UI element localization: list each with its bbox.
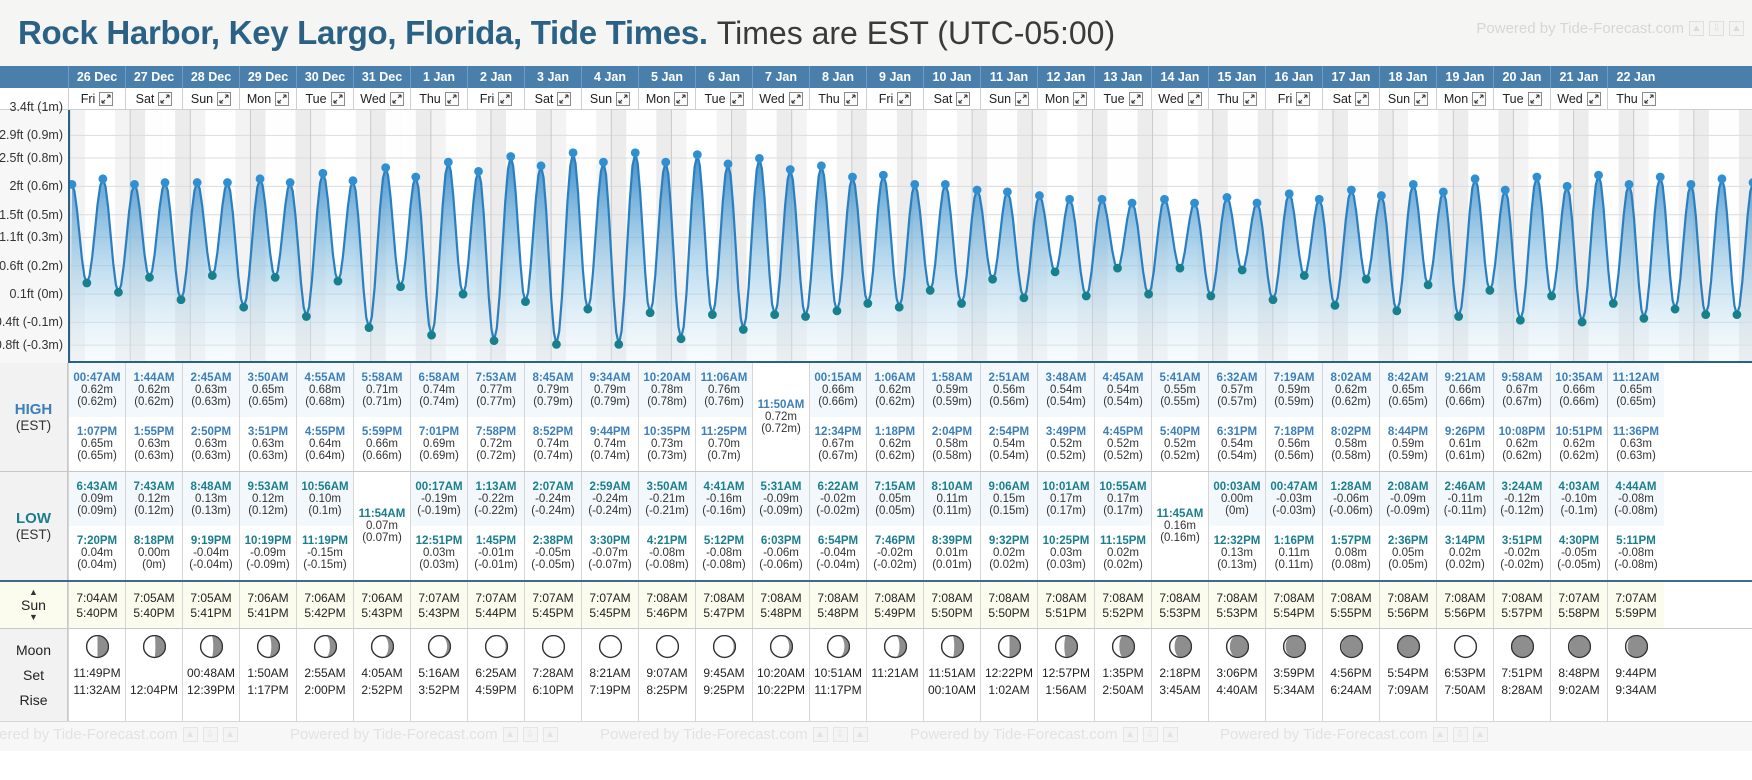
tide-event[interactable]: 8:44PM0.59m(0.59m) [1380, 417, 1436, 471]
high-tide-marker[interactable] [661, 158, 670, 167]
expand-icon[interactable] [498, 92, 512, 106]
low-tide-marker[interactable] [770, 310, 779, 319]
tide-event[interactable]: 8:02AM0.62m(0.62m) [1323, 363, 1379, 417]
expand-icon[interactable] [1472, 92, 1486, 106]
tide-event[interactable]: 2:50PM0.63m(0.63m) [183, 417, 239, 471]
low-tide-marker[interactable] [1547, 292, 1556, 301]
date-cell[interactable]: 29 Dec [239, 66, 296, 88]
high-tide-marker[interactable] [130, 180, 139, 189]
low-tide-marker[interactable] [1516, 316, 1525, 325]
expand-icon[interactable] [1073, 92, 1087, 106]
high-tide-marker[interactable] [506, 152, 515, 161]
high-tide-marker[interactable] [1190, 199, 1199, 208]
tide-event[interactable]: 7:53AM0.77m(0.77m) [468, 363, 524, 417]
chart-plot-area[interactable] [68, 110, 1752, 363]
expand-icon[interactable] [616, 92, 630, 106]
expand-icon[interactable] [674, 92, 688, 106]
low-tide-marker[interactable] [1485, 286, 1494, 295]
tide-event[interactable]: 2:54PM0.54m(0.54m) [981, 417, 1037, 471]
high-tide-marker[interactable] [1377, 191, 1386, 200]
expand-icon[interactable] [789, 92, 803, 106]
tide-event[interactable]: 7:18PM0.56m(0.56m) [1266, 417, 1322, 471]
tide-event[interactable]: 4:41AM-0.16m(-0.16m) [696, 472, 752, 526]
tide-event[interactable]: 1:58AM0.59m(0.59m) [924, 363, 980, 417]
high-tide-marker[interactable] [693, 150, 702, 159]
tide-event[interactable]: 12:34PM0.67m(0.67m) [810, 417, 866, 471]
tide-event[interactable]: 00:47AM-0.03m(-0.03m) [1266, 472, 1322, 526]
tide-event[interactable]: 9:44PM0.74m(0.74m) [582, 417, 638, 471]
low-tide-marker[interactable] [239, 303, 248, 312]
low-tide-marker[interactable] [302, 312, 311, 321]
tide-event[interactable]: 7:20PM0.04m(0.04m) [69, 526, 125, 580]
high-tide-marker[interactable] [474, 167, 483, 176]
high-tide-marker[interactable] [1223, 193, 1232, 202]
tide-height: 0.11m [1278, 547, 1309, 559]
date-cell[interactable]: 26 Dec [68, 66, 125, 88]
low-tide-marker[interactable] [459, 290, 468, 299]
low-tide-marker[interactable] [1424, 280, 1433, 289]
tide-height-alt: (0.74m) [419, 396, 459, 408]
tide-event[interactable]: 9:58AM0.67m(0.67m) [1494, 363, 1550, 417]
tide-event[interactable]: 1:45PM-0.01m(-0.01m) [468, 526, 524, 580]
high-tide-marker[interactable] [1656, 173, 1665, 182]
low-tide-marker[interactable] [114, 288, 123, 297]
expand-icon[interactable] [1296, 92, 1310, 106]
tide-event[interactable]: 5:40PM0.52m(0.52m) [1152, 417, 1208, 471]
tide-event[interactable]: 10:35AM0.66m(0.66m) [1551, 363, 1607, 417]
tide-event[interactable]: 6:03PM-0.06m(-0.06m) [753, 526, 809, 580]
tide-event[interactable]: 11:15PM0.02m(0.02m) [1095, 526, 1151, 580]
date-cell[interactable]: 4 Jan [581, 66, 638, 88]
expand-icon[interactable] [217, 92, 231, 106]
tide-event[interactable]: 5:58AM0.71m(0.71m) [354, 363, 410, 417]
high-tide-marker[interactable] [1128, 199, 1137, 208]
tide-event[interactable]: 11:12AM0.65m(0.65m) [1608, 363, 1664, 417]
expand-icon[interactable] [730, 92, 744, 106]
low-tide-marker[interactable] [1671, 305, 1680, 314]
tide-event[interactable]: 5:41AM0.55m(0.55m) [1152, 363, 1208, 417]
tide-event[interactable]: 9:21AM0.66m(0.66m) [1437, 363, 1493, 417]
date-cell[interactable]: 14 Jan [1151, 66, 1208, 88]
tide-height: 0.04m [81, 547, 113, 559]
high-tide-marker[interactable] [223, 178, 232, 187]
tide-event[interactable]: 11:19PM-0.15m(-0.15m) [297, 526, 353, 580]
tide-event[interactable]: 5:11PM-0.08m(-0.08m) [1608, 526, 1664, 580]
date-cell[interactable]: 7 Jan [752, 66, 809, 88]
high-tide-marker[interactable] [1347, 186, 1356, 195]
date-cell[interactable]: 1 Jan [410, 66, 467, 88]
tide-event[interactable]: 2:51AM0.56m(0.56m) [981, 363, 1037, 417]
tide-event[interactable]: 3:30PM-0.07m(-0.07m) [582, 526, 638, 580]
low-tide-marker[interactable] [708, 310, 717, 319]
low-tide-marker[interactable] [521, 297, 530, 306]
tide-event[interactable]: 10:20AM0.78m(0.78m) [639, 363, 695, 417]
tide-height: -0.02m [1504, 547, 1540, 559]
expand-icon[interactable] [390, 92, 404, 106]
low-tide-marker[interactable] [926, 286, 935, 295]
tide-event[interactable]: 8:48AM0.13m(0.13m) [183, 472, 239, 526]
tide-height: 0.70m [708, 438, 740, 450]
weekday-cell: Wed [1151, 88, 1208, 110]
tide-event[interactable]: 1:57PM0.08m(0.08m) [1323, 526, 1379, 580]
expand-icon[interactable] [1015, 92, 1029, 106]
high-tide-marker[interactable] [1035, 191, 1044, 200]
high-tide-marker[interactable] [1687, 180, 1696, 189]
expand-icon[interactable] [844, 92, 858, 106]
high-tide-marker[interactable] [381, 163, 390, 172]
expand-icon[interactable] [1129, 92, 1143, 106]
y-axis-tick: 0.6ft (0.2m) [0, 259, 63, 273]
date-cell[interactable]: 27 Dec [125, 66, 182, 88]
tide-event[interactable]: 1:55PM0.63m(0.63m) [126, 417, 182, 471]
date-cell[interactable]: 10 Jan [923, 66, 980, 88]
low-tide-marker[interactable] [1578, 318, 1587, 327]
low-tide-marker[interactable] [1051, 267, 1060, 276]
tide-event[interactable]: 1:44AM0.62m(0.62m) [126, 363, 182, 417]
tide-event[interactable]: 10:01AM0.17m(0.17m) [1038, 472, 1094, 526]
expand-icon[interactable] [158, 92, 172, 106]
high-tide-marker[interactable] [755, 154, 764, 163]
tide-event[interactable]: 3:50AM0.65m(0.65m) [240, 363, 296, 417]
low-tide-marker[interactable] [583, 305, 592, 314]
high-tide-marker[interactable] [1409, 180, 1418, 189]
high-tide-marker[interactable] [724, 160, 733, 169]
expand-icon[interactable] [1642, 92, 1656, 106]
tide-event[interactable]: 2:04PM0.58m(0.58m) [924, 417, 980, 471]
tide-event[interactable]: 11:54AM0.07m(0.07m) [354, 500, 410, 552]
high-tide-marker[interactable] [1471, 174, 1480, 183]
tide-height-alt: (0.78m) [647, 396, 687, 408]
tide-event[interactable]: 00:47AM0.62m(0.62m) [69, 363, 125, 417]
expand-icon[interactable] [897, 92, 911, 106]
low-tide-marker[interactable] [1701, 310, 1710, 319]
tide-event[interactable]: 11:25PM0.70m(0.7m) [696, 417, 752, 471]
high-tide-marker[interactable] [256, 174, 265, 183]
tide-event[interactable]: 2:38PM-0.05m(-0.05m) [525, 526, 581, 580]
low-tide-marker[interactable] [1019, 293, 1028, 302]
expand-icon[interactable] [1587, 92, 1601, 106]
tide-event[interactable]: 3:51PM-0.02m(-0.02m) [1494, 526, 1550, 580]
expand-icon[interactable] [557, 92, 571, 106]
low-tide-marker[interactable] [1454, 312, 1463, 321]
tide-event[interactable]: 1:28AM-0.06m(-0.06m) [1323, 472, 1379, 526]
tide-event[interactable]: 2:36PM0.05m(0.05m) [1380, 526, 1436, 580]
low-tide-marker[interactable] [208, 271, 217, 280]
low-tide-marker[interactable] [1331, 301, 1340, 310]
low-tide-marker[interactable] [957, 299, 966, 308]
low-tide-marker[interactable] [1392, 307, 1401, 316]
date-cell[interactable]: 11 Jan [980, 66, 1037, 88]
high-tide-marker[interactable] [1315, 195, 1324, 204]
tide-event[interactable]: 8:39PM0.01m(0.01m) [924, 526, 980, 580]
low-tide-marker[interactable] [552, 340, 561, 349]
tide-height: 0.66m [822, 384, 854, 396]
weekday-label: Sun [191, 92, 213, 106]
tide-height-alt: (0.57m) [1217, 396, 1257, 408]
tide-event[interactable]: 8:18PM0.00m(0m) [126, 526, 182, 580]
tide-event[interactable]: 9:06AM0.15m(0.15m) [981, 472, 1037, 526]
tide-event[interactable]: 10:25PM0.03m(0.03m) [1038, 526, 1094, 580]
tide-event[interactable]: 3:14PM0.02m(0.02m) [1437, 526, 1493, 580]
low-tide-marker[interactable] [988, 275, 997, 284]
date-cell[interactable]: 28 Dec [182, 66, 239, 88]
tide-event[interactable]: 4:03AM-0.10m(-0.1m) [1551, 472, 1607, 526]
date-cell[interactable]: 13 Jan [1094, 66, 1151, 88]
low-tide-marker[interactable] [1362, 275, 1371, 284]
high-tide-marker[interactable] [1160, 195, 1169, 204]
tide-height-alt: (0.72m) [476, 450, 516, 462]
low-tide-marker[interactable] [801, 312, 810, 321]
tide-event[interactable]: 3:24AM-0.12m(-0.12m) [1494, 472, 1550, 526]
expand-icon[interactable] [445, 92, 459, 106]
high-tide-marker[interactable] [1253, 199, 1262, 208]
tide-height-alt: (0.73m) [647, 450, 687, 462]
low-tide-marker[interactable] [1176, 264, 1185, 273]
tide-event[interactable]: 9:26PM0.61m(0.61m) [1437, 417, 1493, 471]
date-cell[interactable]: 22 Jan [1607, 66, 1664, 88]
tide-event[interactable]: 10:51PM0.62m(0.62m) [1551, 417, 1607, 471]
expand-icon[interactable] [1355, 92, 1369, 106]
tide-event[interactable]: 6:54PM-0.04m(-0.04m) [810, 526, 866, 580]
tide-event[interactable]: 6:58AM0.74m(0.74m) [411, 363, 467, 417]
low-tide-marker[interactable] [1300, 271, 1309, 280]
high-tide-marker[interactable] [910, 180, 919, 189]
low-tide-marker[interactable] [895, 303, 904, 312]
high-tide-marker[interactable] [599, 158, 608, 167]
high-tide-marker[interactable] [444, 158, 453, 167]
tide-event[interactable]: 8:42AM0.65m(0.65m) [1380, 363, 1436, 417]
tide-event[interactable]: 00:17AM-0.19m(-0.19m) [411, 472, 467, 526]
tide-time: 2:51AM [989, 372, 1030, 384]
low-tide-marker[interactable] [334, 277, 343, 286]
tide-event[interactable]: 5:12PM-0.08m(-0.08m) [696, 526, 752, 580]
tide-event[interactable]: 8:52PM0.74m(0.74m) [525, 417, 581, 471]
high-tide-marker[interactable] [1003, 187, 1012, 196]
tide-event[interactable]: 7:43AM0.12m(0.12m) [126, 472, 182, 526]
high-tide-marker[interactable] [786, 165, 795, 174]
high-tide-marker[interactable] [631, 148, 640, 157]
tide-event[interactable]: 3:51PM0.63m(0.63m) [240, 417, 296, 471]
tide-event[interactable]: 7:58PM0.72m(0.72m) [468, 417, 524, 471]
low-tide-marker[interactable] [863, 299, 872, 308]
tide-event[interactable]: 8:10AM0.11m(0.11m) [924, 472, 980, 526]
watermark-text: Powered by Tide-Forecast.com [1476, 20, 1684, 37]
tide-event[interactable]: 7:46PM-0.02m(-0.02m) [867, 526, 923, 580]
low-tide-marker[interactable] [145, 273, 154, 282]
tide-event[interactable]: 11:45AM0.16m(0.16m) [1152, 500, 1208, 552]
tide-event[interactable]: 8:02PM0.58m(0.58m) [1323, 417, 1379, 471]
tide-event[interactable]: 2:08AM-0.09m(-0.09m) [1380, 472, 1436, 526]
high-tide-marker[interactable] [537, 161, 546, 170]
tide-event[interactable]: 11:06AM0.76m(0.76m) [696, 363, 752, 417]
warning-icon: ▲ [853, 727, 868, 742]
tide-event[interactable]: 12:51PM0.03m(0.03m) [411, 526, 467, 580]
tide-event[interactable]: 7:19AM0.59m(0.59m) [1266, 363, 1322, 417]
low-tide-marker[interactable] [177, 295, 186, 304]
low-tide-marker[interactable] [1609, 299, 1618, 308]
high-tide-marker[interactable] [1501, 186, 1510, 195]
low-tide-marker[interactable] [82, 279, 91, 288]
expand-icon[interactable] [99, 92, 113, 106]
high-tide-marker[interactable] [569, 148, 578, 157]
low-tide-marker[interactable] [490, 336, 499, 345]
tide-event[interactable]: 10:19PM-0.09m(-0.09m) [240, 526, 296, 580]
tide-event[interactable]: 11:50AM0.72m(0.72m) [753, 391, 809, 443]
high-tide-marker[interactable] [1625, 180, 1634, 189]
low-tide-marker[interactable] [646, 308, 655, 317]
date-cell[interactable]: 5 Jan [638, 66, 695, 88]
low-tide-marker[interactable] [1206, 292, 1215, 301]
high-tide-marker[interactable] [411, 173, 420, 182]
tide-event[interactable]: 5:59PM0.66m(0.66m) [354, 417, 410, 471]
tide-event[interactable]: 10:08PM0.62m(0.62m) [1494, 417, 1550, 471]
tide-event[interactable]: 8:45AM0.79m(0.79m) [525, 363, 581, 417]
date-cell[interactable]: 20 Jan [1493, 66, 1550, 88]
high-tide-marker[interactable] [879, 171, 888, 180]
high-tide-marker[interactable] [1594, 171, 1603, 180]
high-tide-marker[interactable] [941, 180, 950, 189]
tide-event[interactable]: 00:15AM0.66m(0.66m) [810, 363, 866, 417]
date-cell[interactable]: 15 Jan [1208, 66, 1265, 88]
expand-icon[interactable] [1414, 92, 1428, 106]
expand-icon[interactable] [1243, 92, 1257, 106]
low-tide-marker[interactable] [1144, 290, 1153, 299]
high-tide-marker[interactable] [848, 173, 857, 182]
tide-event[interactable]: 00:03AM0.00m(0m) [1209, 472, 1265, 526]
low-tide-marker[interactable] [427, 331, 436, 340]
tide-event[interactable]: 3:49PM0.52m(0.52m) [1038, 417, 1094, 471]
expand-icon[interactable] [275, 92, 289, 106]
high-tide-marker[interactable] [349, 176, 358, 185]
tide-event[interactable]: 2:46AM-0.11m(-0.11m) [1437, 472, 1493, 526]
low-tide-marker[interactable] [677, 334, 686, 343]
high-tide-marker[interactable] [318, 169, 327, 178]
download-icon: ⇩ [1709, 21, 1724, 36]
tide-event[interactable]: 2:59AM-0.24m(-0.24m) [582, 472, 638, 526]
high-tide-marker[interactable] [98, 174, 107, 183]
low-tide-marker[interactable] [396, 282, 405, 291]
tide-event[interactable]: 2:45AM0.63m(0.63m) [183, 363, 239, 417]
tide-event[interactable]: 4:44AM-0.08m(-0.08m) [1608, 472, 1664, 526]
sunrise-time: 7:04AM [76, 591, 117, 605]
date-cell[interactable]: 17 Jan [1322, 66, 1379, 88]
date-cell[interactable]: 3 Jan [524, 66, 581, 88]
tide-event[interactable]: 9:32PM0.02m(0.02m) [981, 526, 1037, 580]
y-axis-tick: 0.1ft (0m) [10, 287, 64, 301]
high-tide-marker[interactable] [161, 178, 170, 187]
tide-event[interactable]: 1:16PM0.11m(0.11m) [1266, 526, 1322, 580]
date-cell[interactable]: 19 Jan [1436, 66, 1493, 88]
low-tide-marker[interactable] [1733, 310, 1742, 319]
date-cell[interactable]: 16 Jan [1265, 66, 1322, 88]
expand-icon[interactable] [1528, 92, 1542, 106]
tide-event[interactable]: 1:13AM-0.22m(-0.22m) [468, 472, 524, 526]
tide-event[interactable]: 6:31PM0.54m(0.54m) [1209, 417, 1265, 471]
low-tide-marker[interactable] [1113, 264, 1122, 273]
high-tide-marker[interactable] [1098, 195, 1107, 204]
date-cell[interactable]: 30 Dec [296, 66, 353, 88]
tide-event[interactable]: 5:31AM-0.09m(-0.09m) [753, 472, 809, 526]
high-tide-marker[interactable] [193, 178, 202, 187]
tide-event[interactable]: 6:22AM-0.02m(-0.02m) [810, 472, 866, 526]
tide-event[interactable]: 10:35PM0.73m(0.73m) [639, 417, 695, 471]
tide-event[interactable]: 9:53AM0.12m(0.12m) [240, 472, 296, 526]
tide-event[interactable]: 2:07AM-0.24m(-0.24m) [525, 472, 581, 526]
tide-event[interactable]: 6:43AM0.09m(0.09m) [69, 472, 125, 526]
date-cell[interactable]: 2 Jan [467, 66, 524, 88]
date-cell[interactable]: 21 Jan [1550, 66, 1607, 88]
moonrise-time: 6:24AM [1330, 682, 1371, 699]
tide-event[interactable]: 1:18PM0.62m(0.62m) [867, 417, 923, 471]
weekday-cell: Sat [923, 88, 980, 110]
sun-cell: 7:08AM5:46PM [638, 582, 695, 628]
tide-event[interactable]: 3:48AM0.54m(0.54m) [1038, 363, 1094, 417]
tide-event[interactable]: 10:55AM0.17m(0.17m) [1095, 472, 1151, 526]
tide-event[interactable]: 12:32PM0.13m(0.13m) [1209, 526, 1265, 580]
expand-icon[interactable] [956, 92, 970, 106]
low-tide-marker[interactable] [271, 273, 280, 282]
date-cell[interactable]: 9 Jan [866, 66, 923, 88]
date-cell[interactable]: 31 Dec [353, 66, 410, 88]
low-tide-marker[interactable] [739, 325, 748, 334]
tide-event[interactable]: 1:06AM0.62m(0.62m) [867, 363, 923, 417]
tide-event[interactable]: 10:56AM0.10m(0.1m) [297, 472, 353, 526]
low-tide-marker[interactable] [1639, 314, 1648, 323]
high-tide-marker[interactable] [1439, 187, 1448, 196]
low-tide-marker[interactable] [1269, 295, 1278, 304]
sun-cell: 7:08AM5:52PM [1094, 582, 1151, 628]
date-cell[interactable]: 18 Jan [1379, 66, 1436, 88]
tide-height-alt: (-0.24m) [531, 505, 574, 517]
low-tide-marker[interactable] [614, 340, 623, 349]
low-tide-marker[interactable] [1238, 266, 1247, 275]
tide-event[interactable]: 4:30PM-0.05m(-0.05m) [1551, 526, 1607, 580]
high-tide-marker[interactable] [973, 186, 982, 195]
tide-event[interactable]: 1:07PM0.65m(0.65m) [69, 417, 125, 471]
date-cell[interactable]: 8 Jan [809, 66, 866, 88]
date-cell[interactable]: 12 Jan [1037, 66, 1094, 88]
tide-event[interactable]: 7:15AM0.05m(0.05m) [867, 472, 923, 526]
expand-icon[interactable] [331, 92, 345, 106]
high-tide-marker[interactable] [1285, 189, 1294, 198]
tide-event[interactable]: 9:19PM-0.04m(-0.04m) [183, 526, 239, 580]
high-tide-marker[interactable] [1563, 182, 1572, 191]
tide-event[interactable]: 3:50AM-0.21m(-0.21m) [639, 472, 695, 526]
tide-event[interactable]: 7:01PM0.69m(0.69m) [411, 417, 467, 471]
high-tide-marker[interactable] [286, 178, 295, 187]
tide-event[interactable]: 11:36PM0.63m(0.63m) [1608, 417, 1664, 471]
high-tide-marker[interactable] [1532, 173, 1541, 182]
high-tide-marker[interactable] [1065, 195, 1074, 204]
low-tide-marker[interactable] [833, 307, 842, 316]
tide-event[interactable]: 4:45AM0.54m(0.54m) [1095, 363, 1151, 417]
tide-event[interactable]: 9:34AM0.79m(0.79m) [582, 363, 638, 417]
date-cell[interactable]: 6 Jan [695, 66, 752, 88]
tide-event[interactable]: 4:45PM0.52m(0.52m) [1095, 417, 1151, 471]
tide-time: 1:57PM [1331, 535, 1371, 547]
tide-time: 00:47AM [73, 372, 120, 384]
high-tide-marker[interactable] [817, 161, 826, 170]
low-tide-marker[interactable] [365, 323, 374, 332]
tide-event[interactable]: 6:32AM0.57m(0.57m) [1209, 363, 1265, 417]
tide-event[interactable]: 4:21PM-0.08m(-0.08m) [639, 526, 695, 580]
tide-cell: 5:31AM-0.09m(-0.09m)6:03PM-0.06m(-0.06m) [752, 472, 809, 580]
expand-icon[interactable] [1188, 92, 1202, 106]
low-tide-marker[interactable] [1082, 292, 1091, 301]
high-tide-marker[interactable] [1718, 174, 1727, 183]
tide-event[interactable]: 4:55PM0.64m(0.64m) [297, 417, 353, 471]
tide-event[interactable]: 4:55AM0.68m(0.68m) [297, 363, 353, 417]
